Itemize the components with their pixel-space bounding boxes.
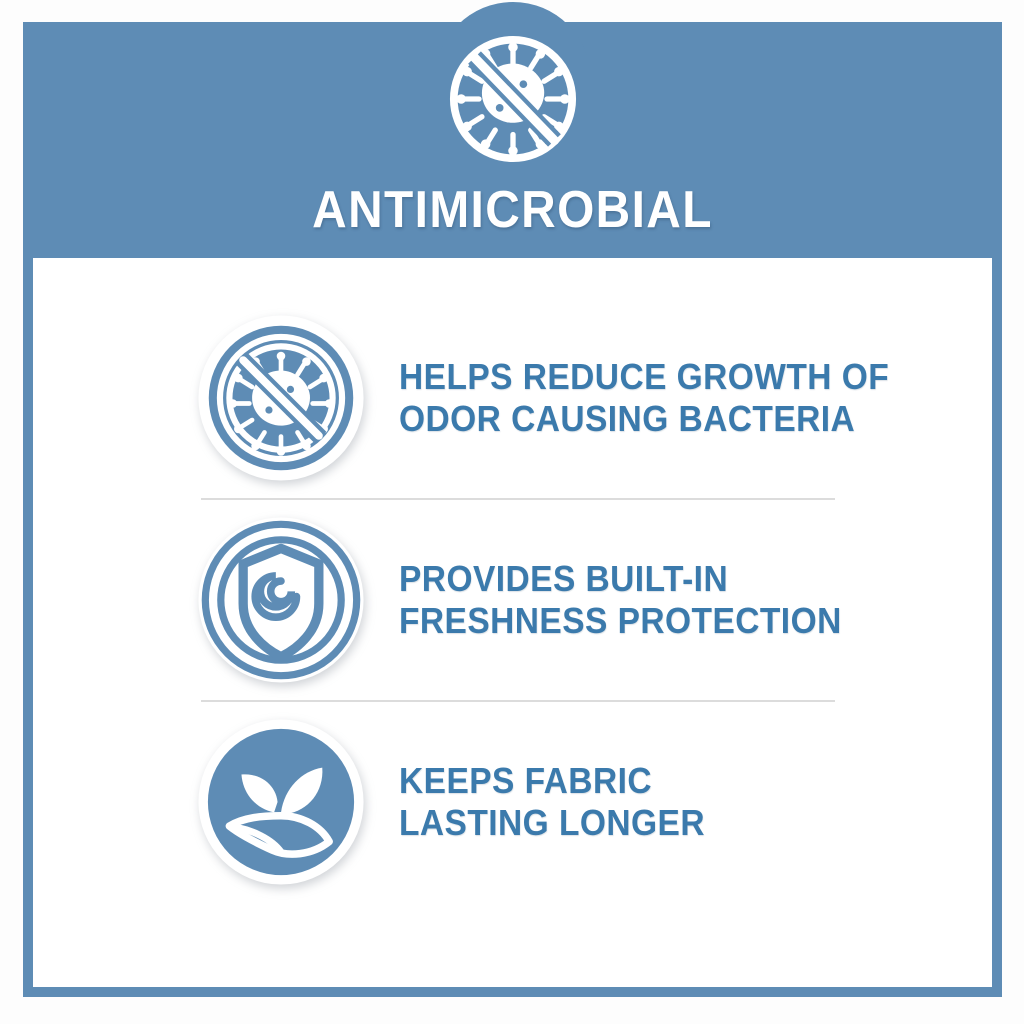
feature-row: KEEPS FABRIC LASTING LONGER xyxy=(195,702,840,902)
feature-text: HELPS REDUCE GROWTH OF ODOR CAUSING BACT… xyxy=(399,356,889,441)
page-title: ANTIMICROBIAL xyxy=(62,184,963,236)
feature-row: PROVIDES BUILT-IN FRESHNESS PROTECTION xyxy=(195,500,840,700)
feature-line-2: LASTING LONGER xyxy=(399,802,705,844)
feature-line-1: PROVIDES BUILT-IN xyxy=(399,558,842,600)
feature-line-1: HELPS REDUCE GROWTH OF xyxy=(399,356,889,398)
feature-row: HELPS REDUCE GROWTH OF ODOR CAUSING BACT… xyxy=(195,298,840,498)
content-panel: HELPS REDUCE GROWTH OF ODOR CAUSING BACT… xyxy=(33,258,992,987)
infographic-root: ANTIMICROBIAL xyxy=(0,0,1024,1024)
header-band: ANTIMICROBIAL xyxy=(23,22,1002,258)
shield-swirl-icon xyxy=(195,514,367,686)
feature-line-1: KEEPS FABRIC xyxy=(399,760,705,802)
feature-line-2: ODOR CAUSING BACTERIA xyxy=(399,398,889,440)
no-germ-circle-icon xyxy=(195,312,367,484)
feature-list: HELPS REDUCE GROWTH OF ODOR CAUSING BACT… xyxy=(195,298,840,902)
feature-text: PROVIDES BUILT-IN FRESHNESS PROTECTION xyxy=(399,558,842,643)
no-germ-icon xyxy=(439,25,587,173)
leaves-icon xyxy=(195,716,367,888)
feature-text: KEEPS FABRIC LASTING LONGER xyxy=(399,760,705,845)
feature-line-2: FRESHNESS PROTECTION xyxy=(399,600,842,642)
